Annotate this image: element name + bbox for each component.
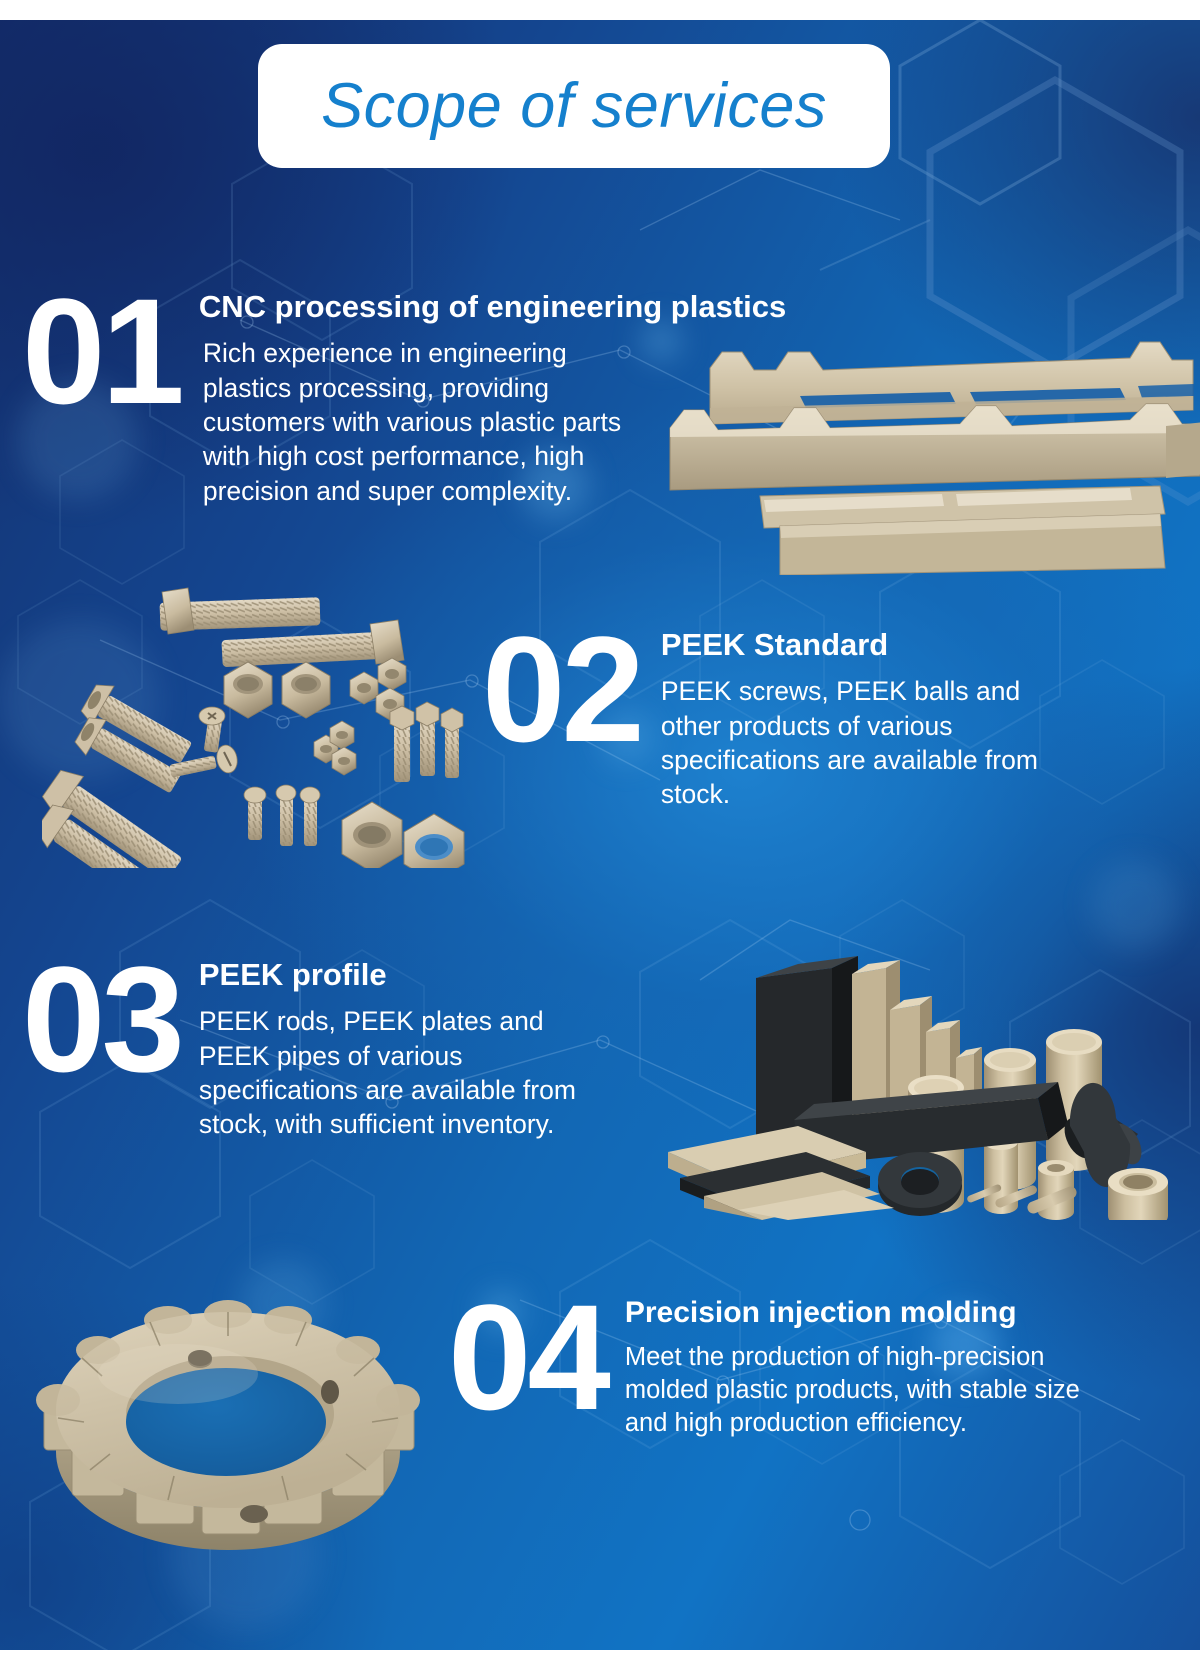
service-body-03: PEEK rods, PEEK plates and PEEK pipes of… bbox=[199, 1004, 599, 1142]
service-heading-03: PEEK profile bbox=[199, 958, 599, 992]
cap-screw-group-bottom bbox=[244, 785, 320, 846]
peek-screws-and-nuts-image bbox=[42, 548, 472, 868]
top-white-strip bbox=[0, 0, 1200, 20]
peek-slotted-ring-image bbox=[28, 1262, 448, 1562]
socket-bolt-pair-left bbox=[72, 678, 197, 801]
scope-of-services-poster: Scope of services 01 CNC processing of e… bbox=[0, 0, 1200, 1675]
service-number-04: 04 bbox=[448, 1288, 607, 1426]
black-peek-ring bbox=[878, 1152, 962, 1216]
hex-nut-large-1 bbox=[224, 662, 272, 718]
service-heading-02: PEEK Standard bbox=[661, 628, 1081, 662]
service-body-01: Rich experience in engineering plastics … bbox=[203, 336, 633, 508]
hex-nut-xl-bottom-2 bbox=[404, 814, 464, 868]
bottom-white-strip bbox=[0, 1650, 1200, 1675]
machined-peek-chain-part-image bbox=[660, 300, 1200, 575]
service-number-03: 03 bbox=[22, 950, 181, 1088]
service-number-01: 01 bbox=[22, 282, 181, 420]
service-item-04: 04 Precision injection molding Meet the … bbox=[448, 1288, 1093, 1440]
page-title: Scope of services bbox=[321, 70, 827, 142]
long-bolt-top-1 bbox=[160, 588, 321, 634]
service-number-02: 02 bbox=[482, 620, 641, 758]
service-body-02: PEEK screws, PEEK balls and other produc… bbox=[661, 674, 1081, 812]
service-heading-01: CNC processing of engineering plastics bbox=[199, 290, 633, 324]
service-body-04: Meet the production of high-precision mo… bbox=[625, 1341, 1093, 1440]
peek-rods-plates-tubes-image bbox=[608, 890, 1198, 1220]
hex-bolt-right-3 bbox=[441, 708, 463, 778]
hex-bolt-right-2 bbox=[416, 702, 439, 776]
phillips-screw bbox=[199, 707, 225, 753]
service-heading-04: Precision injection molding bbox=[625, 1296, 1093, 1329]
hex-nut-large-2 bbox=[282, 662, 330, 718]
service-item-03: 03 PEEK profile PEEK rods, PEEK plates a… bbox=[22, 950, 599, 1142]
hex-nut-small-cluster-mid bbox=[314, 721, 356, 775]
service-item-01: 01 CNC processing of engineering plastic… bbox=[22, 282, 633, 508]
hex-bolt-right-1 bbox=[390, 706, 414, 782]
title-card: Scope of services bbox=[258, 44, 890, 168]
service-item-02: 02 PEEK Standard PEEK screws, PEEK balls… bbox=[482, 620, 1081, 812]
tan-peek-tube-large bbox=[1108, 1168, 1168, 1220]
hex-nut-xl-bottom-1 bbox=[342, 802, 402, 868]
